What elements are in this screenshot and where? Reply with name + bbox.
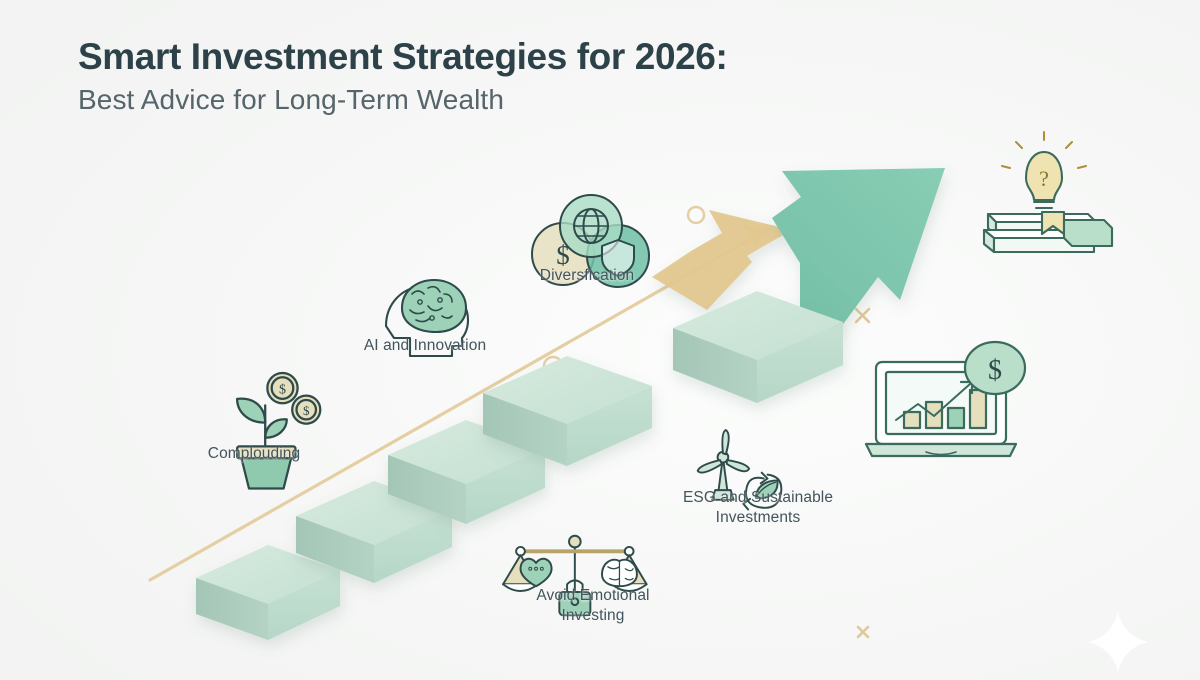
laptop-growth-chart-icon: $ [866, 342, 1025, 456]
gold-ring-decor-1 [688, 207, 704, 223]
step-label-complouding: Complouding [178, 444, 330, 464]
step-label-avoid-emotional-investing: Avoid Emotional Investing [486, 586, 700, 626]
svg-text:$: $ [279, 381, 286, 397]
money-plant-icon: $ $ [237, 373, 320, 489]
books-lightbulb-icon: ? [984, 132, 1112, 252]
header-block: Smart Investment Strategies for 2026: Be… [78, 36, 727, 119]
step-label-esg-and-sustainable-investments: ESG and Sustainable Investments [652, 488, 864, 528]
page-subtitle: Best Advice for Long-Term Wealth [78, 82, 727, 118]
sparkle-decor-bottom-right [1088, 612, 1148, 672]
infographic-canvas: Smart Investment Strategies for 2026: Be… [0, 0, 1200, 680]
svg-text:?: ? [1039, 166, 1049, 191]
step-label-ai-and-innovation: AI and Innovation [332, 336, 518, 356]
step-label-diversfication: Diversfication [494, 266, 680, 286]
page-title: Smart Investment Strategies for 2026: [78, 36, 727, 77]
svg-text:$: $ [303, 403, 310, 418]
svg-text:$: $ [988, 355, 1002, 386]
growth-arrow [652, 210, 792, 310]
